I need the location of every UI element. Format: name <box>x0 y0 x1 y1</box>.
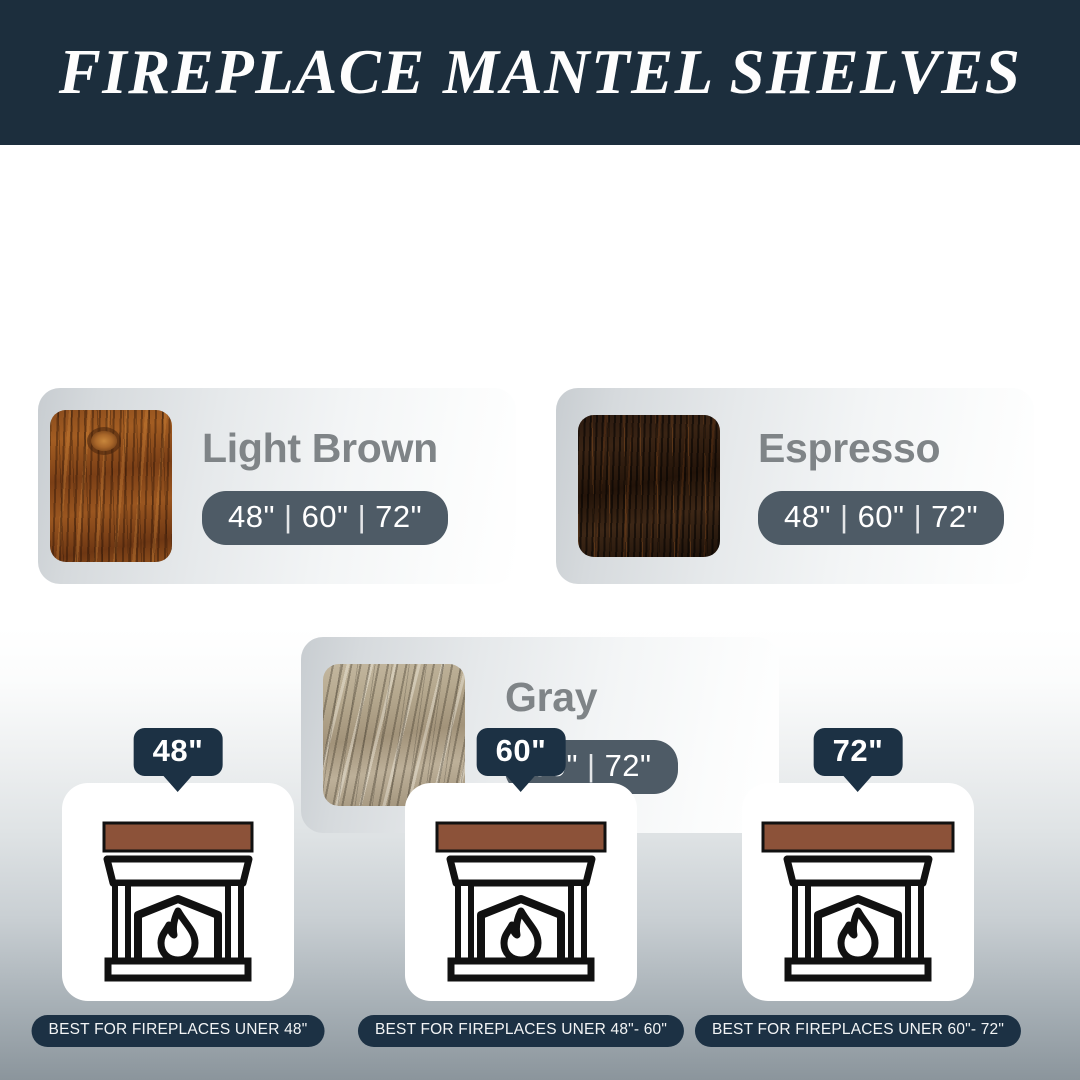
fireplace-card[interactable]: 72" <box>742 783 974 1001</box>
fireplace-left-column <box>458 883 471 961</box>
fireplace-cornice <box>787 859 929 883</box>
size-badge-label: 48" <box>153 733 204 768</box>
fireplace-hearth-base <box>451 961 591 978</box>
color-card-body: Espresso 48"|60"|72" <box>758 427 1004 544</box>
fireplace-left-column <box>115 883 128 961</box>
mantel-shelf-bar <box>763 823 953 851</box>
color-name-label: Gray <box>505 676 678 719</box>
size-option: 72" <box>931 499 978 534</box>
color-name-label: Espresso <box>758 427 1004 470</box>
espresso-wood-swatch <box>578 415 720 557</box>
fireplace-left-column <box>795 883 808 961</box>
flame-icon <box>161 911 195 960</box>
page-header: FIREPLACE MANTEL SHELVES <box>0 0 1080 145</box>
fireplace-right-column <box>908 883 921 961</box>
size-guide-item-48[interactable]: 48" BEST FOR FIREPLACES UNER 48" <box>62 783 294 1001</box>
fireplace-right-column <box>228 883 241 961</box>
size-guide-caption: BEST FOR FIREPLACES UNER 60"- 72" <box>695 1015 1021 1047</box>
fireplace-cornice <box>450 859 592 883</box>
size-option: 72" <box>605 748 652 783</box>
color-name-label: Light Brown <box>202 427 448 470</box>
light-brown-wood-swatch <box>50 410 172 562</box>
size-separator: | <box>905 499 932 534</box>
fireplace-icon <box>742 783 974 1001</box>
fireplace-icon <box>62 783 294 1001</box>
size-badge-48: 48" <box>134 728 223 776</box>
fireplace-right-column <box>571 883 584 961</box>
size-badge-72: 72" <box>814 728 903 776</box>
color-card-body: Light Brown 48"|60"|72" <box>202 427 448 544</box>
size-separator: | <box>275 499 302 534</box>
flame-icon <box>504 911 538 960</box>
fireplace-cornice <box>107 859 249 883</box>
flame-icon <box>841 911 875 960</box>
fireplace-icon <box>405 783 637 1001</box>
size-guide-item-60[interactable]: 60" BEST FOR FIREPLACES UNER 48"- 60" <box>405 783 637 1001</box>
size-badge-label: 60" <box>496 733 547 768</box>
page-title: FIREPLACE MANTEL SHELVES <box>59 36 1022 109</box>
size-options-pill[interactable]: 48"|60"|72" <box>202 491 448 545</box>
size-options-pill[interactable]: 48"|60"|72" <box>758 491 1004 545</box>
size-option: 48" <box>784 499 831 534</box>
color-card-light-brown[interactable]: Light Brown 48"|60"|72" <box>38 388 516 584</box>
fireplace-hearth-base <box>108 961 248 978</box>
size-separator: | <box>831 499 858 534</box>
size-separator: | <box>578 748 605 783</box>
size-guide-caption: BEST FOR FIREPLACES UNER 48" <box>32 1015 325 1047</box>
size-separator: | <box>349 499 376 534</box>
size-guide-caption: BEST FOR FIREPLACES UNER 48"- 60" <box>358 1015 684 1047</box>
size-option: 72" <box>375 499 422 534</box>
mantel-shelf-bar <box>104 823 252 851</box>
size-option: 60" <box>302 499 349 534</box>
fireplace-hearth-base <box>788 961 928 978</box>
mantel-shelf-bar <box>437 823 605 851</box>
size-badge-60: 60" <box>477 728 566 776</box>
size-option: 48" <box>228 499 275 534</box>
size-option: 60" <box>858 499 905 534</box>
fireplace-card[interactable]: 48" <box>62 783 294 1001</box>
size-guide-item-72[interactable]: 72" BEST FOR FIREPLACES UNER 60"- 72" <box>742 783 974 1001</box>
color-card-espresso[interactable]: Espresso 48"|60"|72" <box>556 388 1034 584</box>
size-badge-label: 72" <box>833 733 884 768</box>
fireplace-card[interactable]: 60" <box>405 783 637 1001</box>
